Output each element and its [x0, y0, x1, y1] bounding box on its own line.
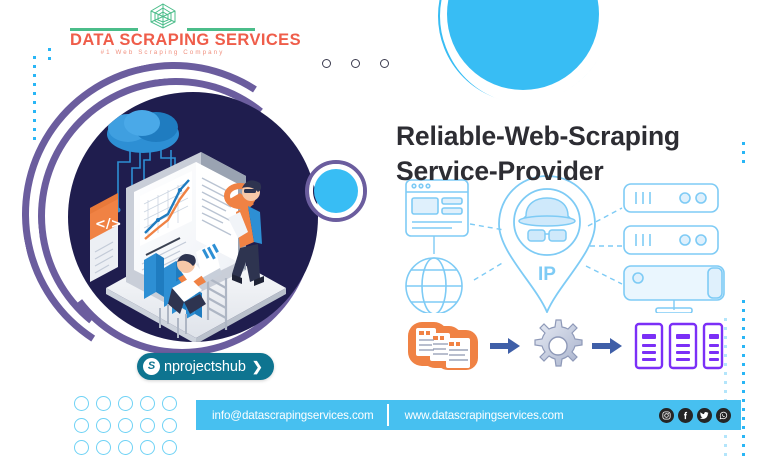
- document-stack-icon: [408, 322, 478, 370]
- chevron-right-icon: ❯: [252, 360, 263, 373]
- logo-company-name: DATA SCRAPING SERVICES: [70, 32, 255, 49]
- cta-label: nprojectshub: [164, 359, 246, 375]
- left-dotted-line-a: [33, 56, 36, 146]
- twitter-icon[interactable]: [697, 408, 712, 423]
- skype-icon: S: [143, 358, 160, 375]
- globe-icon: [406, 258, 462, 313]
- banner-canvas: </>: [0, 0, 768, 456]
- footer-website[interactable]: www.datascrapingservices.com: [389, 409, 576, 422]
- logo-tagline: #1 Web Scraping Company: [70, 49, 255, 56]
- social-links: [659, 408, 741, 423]
- dot-1: [322, 59, 331, 68]
- cloud-icon: [107, 110, 179, 153]
- dot-2: [351, 59, 360, 68]
- incognito-hat-icon: [519, 198, 575, 226]
- headline-line-1: Reliable-Web-Scraping: [396, 119, 756, 154]
- dot-3: [380, 59, 389, 68]
- facebook-icon[interactable]: [678, 408, 693, 423]
- contact-footer-bar: info@datascrapingservices.com www.datasc…: [196, 400, 741, 430]
- isometric-data-analytics-illustration: </>: [68, 92, 318, 342]
- accent-ring-badge: [305, 160, 367, 222]
- page-title: Reliable-Web-Scraping Service-Provider: [396, 119, 756, 189]
- three-dots-decoration: [322, 59, 389, 68]
- left-dotted-line-b: [48, 48, 51, 66]
- arrow-right-icon-2: [592, 338, 622, 354]
- skype-icon-letter: S: [148, 361, 155, 372]
- gear-icon: [535, 320, 582, 366]
- right-dotted-line-b: [742, 300, 745, 456]
- server-rack-icon-2: [624, 226, 718, 254]
- whatsapp-icon[interactable]: [716, 408, 731, 423]
- brand-logo[interactable]: DATA SCRAPING SERVICES #1 Web Scraping C…: [70, 2, 255, 54]
- right-dotted-line-c: [724, 318, 727, 456]
- nprojectshub-cta-button[interactable]: S nprojectshub ❯: [137, 353, 274, 380]
- scraping-flow-diagram: [404, 316, 724, 376]
- footer-email[interactable]: info@datascrapingservices.com: [196, 409, 387, 422]
- ip-location-pin-icon: [499, 176, 595, 312]
- incognito-glasses-icon: [528, 230, 566, 241]
- ip-label: IP: [538, 264, 556, 285]
- instagram-icon[interactable]: [659, 408, 674, 423]
- desktop-monitor-icon: [656, 308, 692, 313]
- arrow-right-icon-1: [490, 338, 520, 354]
- circle-grid-decoration: [74, 396, 184, 456]
- ip-network-diagram: IP: [392, 168, 732, 313]
- headline-line-2: Service-Provider: [396, 154, 756, 189]
- server-box-icon: [624, 266, 724, 300]
